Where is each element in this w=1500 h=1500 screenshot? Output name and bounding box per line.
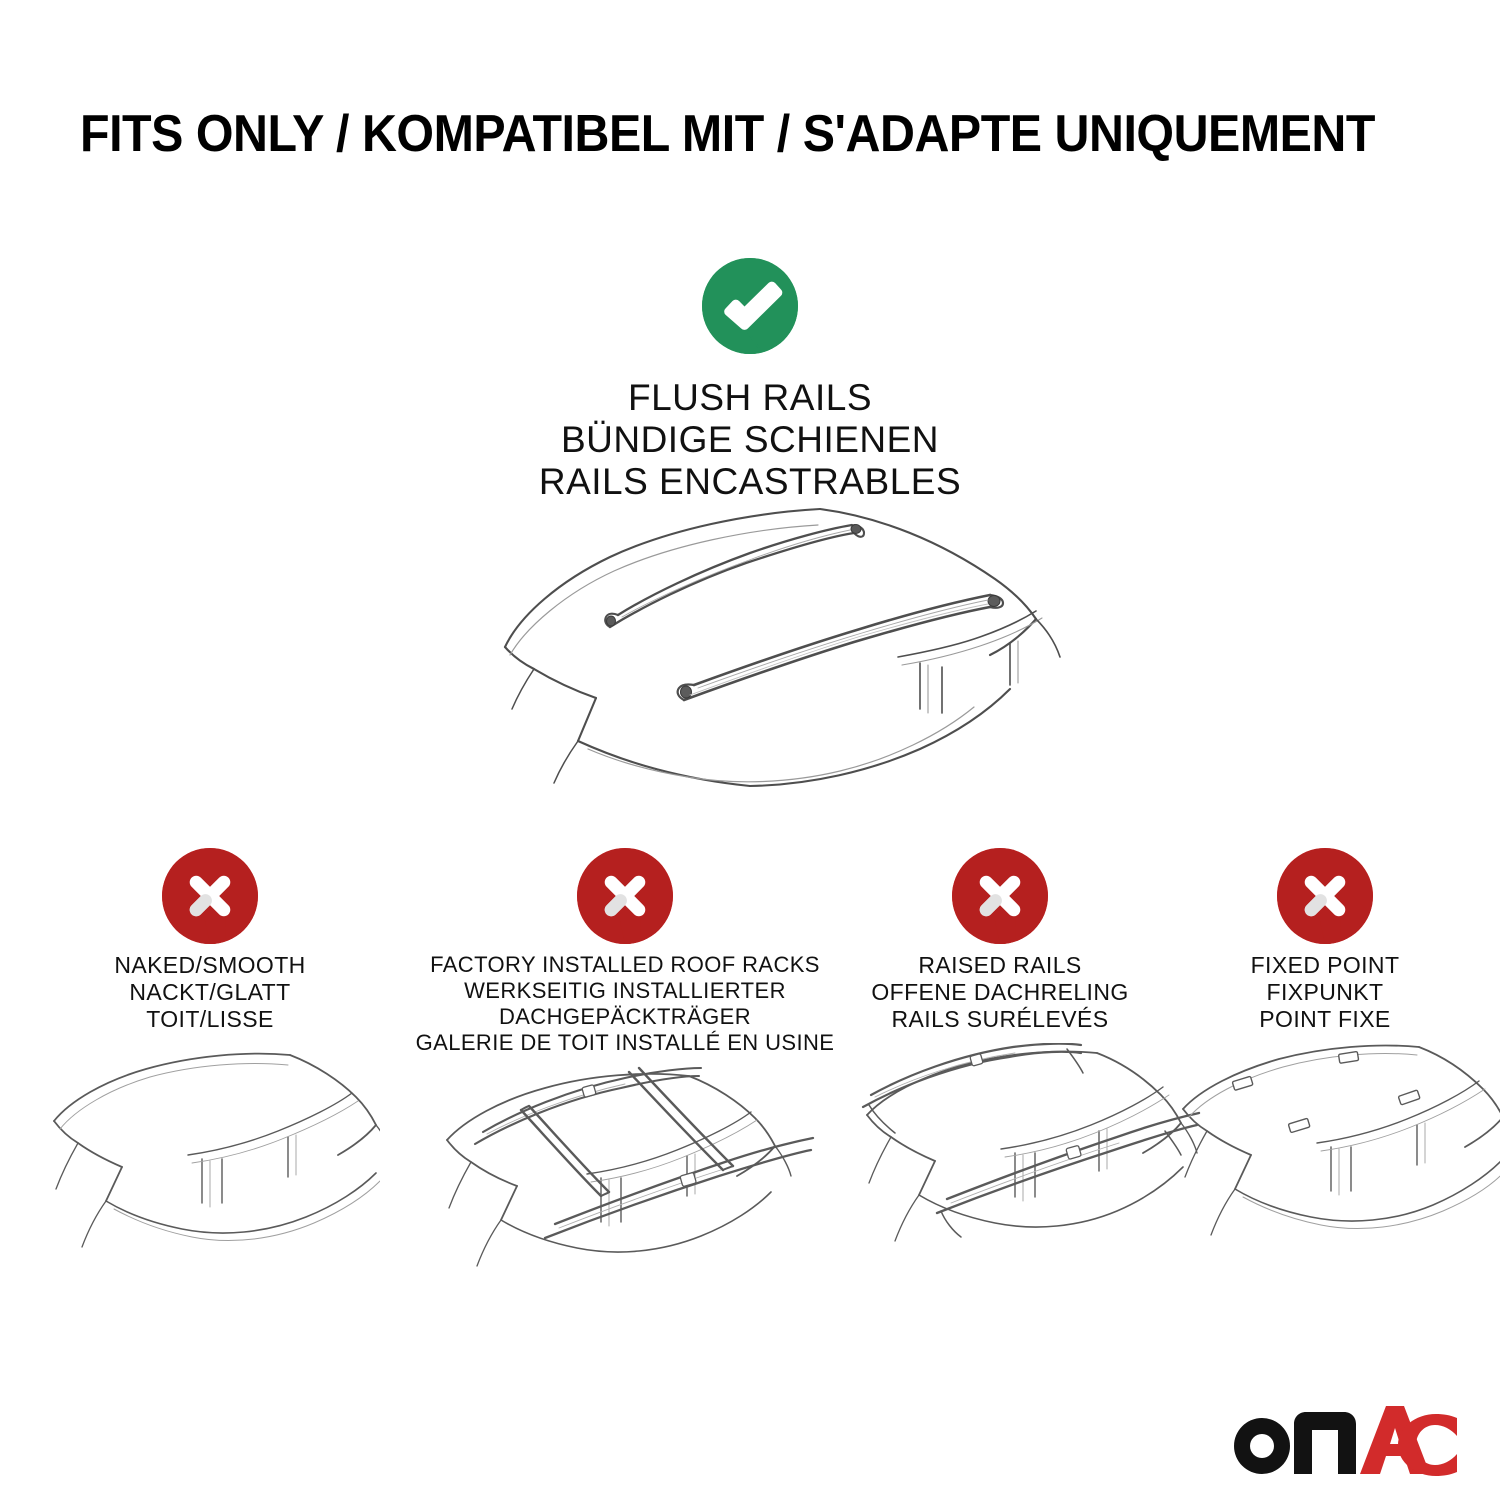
label-en: FIXED POINT [1175,952,1475,979]
incompatible-labels: NAKED/SMOOTH NACKT/GLATT TOIT/LISSE [40,952,380,1033]
compatible-section: FLUSH RAILS BÜNDIGE SCHIENEN RAILS ENCAS… [0,258,1500,503]
incompatible-item-fixed-point: FIXED POINT FIXPUNKT POINT FIXE [1175,848,1475,1288]
label-en: NAKED/SMOOTH [40,952,380,979]
compatible-label-en: FLUSH RAILS [0,377,1500,419]
label-de: OFFENE DACHRELING [835,979,1165,1006]
label-de-2: DACHGEPÄCKTRÄGER [390,1004,860,1030]
label-en: FACTORY INSTALLED ROOF RACKS [390,952,860,978]
x-mark [577,848,673,944]
x-circle-icon [952,848,1048,944]
logo-letter-o [1234,1418,1290,1474]
check-circle-icon [702,258,798,354]
incompatible-labels: FIXED POINT FIXPUNKT POINT FIXE [1175,952,1475,1033]
car-roof-factory-crossbars-illustration [425,1066,825,1306]
incompatible-item-raised-rails: RAISED RAILS OFFENE DACHRELING RAILS SUR… [835,848,1165,1288]
incompatible-labels: FACTORY INSTALLED ROOF RACKS WERKSEITIG … [390,952,860,1056]
badge-wrapper [40,848,380,952]
x-circle-icon [1277,848,1373,944]
badge-wrapper [1175,848,1475,952]
incompatible-section: NAKED/SMOOTH NACKT/GLATT TOIT/LISSE [0,848,1500,1318]
label-fr: RAILS SURÉLEVÉS [835,1006,1165,1033]
fitment-infographic: FITS ONLY / KOMPATIBEL MIT / S'ADAPTE UN… [0,0,1500,1500]
label-en: RAISED RAILS [835,952,1165,979]
car-roof-flush-rails-illustration [450,495,1070,795]
check-mark [702,258,798,354]
label-fr: GALERIE DE TOIT INSTALLÉ EN USINE [390,1030,860,1056]
car-roof-bare-illustration [40,1043,380,1283]
x-mark [952,848,1048,944]
label-de-1: WERKSEITIG INSTALLIERTER [390,978,860,1004]
incompatible-item-naked-smooth: NAKED/SMOOTH NACKT/GLATT TOIT/LISSE [40,848,380,1288]
badge-wrapper [835,848,1165,952]
x-circle-icon [577,848,673,944]
car-roof-fixed-points-illustration [1175,1043,1500,1283]
x-circle-icon [162,848,258,944]
incompatible-item-factory-roof-racks: FACTORY INSTALLED ROOF RACKS WERKSEITIG … [390,848,860,1311]
x-mark [1277,848,1373,944]
compatible-labels: FLUSH RAILS BÜNDIGE SCHIENEN RAILS ENCAS… [0,377,1500,503]
logo-letter-m [1294,1412,1356,1474]
compatible-label-de: BÜNDIGE SCHIENEN [0,419,1500,461]
omac-logo [1232,1404,1457,1476]
incompatible-labels: RAISED RAILS OFFENE DACHRELING RAILS SUR… [835,952,1165,1033]
car-roof-raised-rails-illustration [835,1043,1205,1283]
page-title: FITS ONLY / KOMPATIBEL MIT / S'ADAPTE UN… [80,104,1336,164]
label-fr: POINT FIXE [1175,1006,1475,1033]
badge-wrapper [390,848,860,952]
label-fr: TOIT/LISSE [40,1006,380,1033]
label-de: NACKT/GLATT [40,979,380,1006]
label-de: FIXPUNKT [1175,979,1475,1006]
x-mark [162,848,258,944]
